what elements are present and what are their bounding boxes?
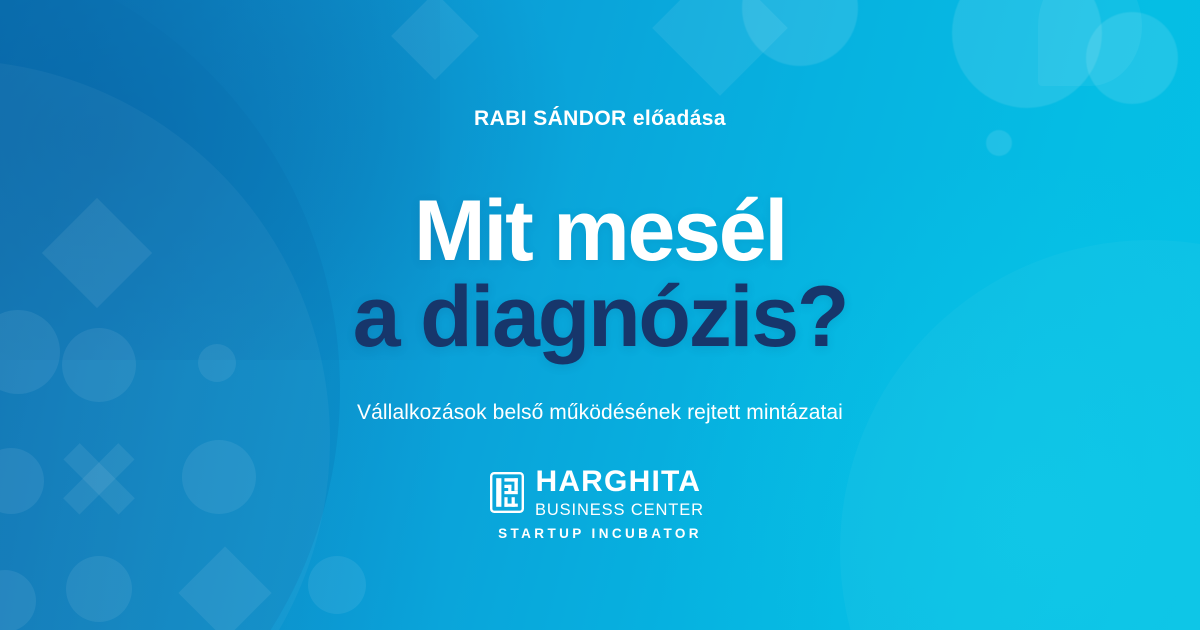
logo-primary-row: HARGHITA BUSINESS CENTER <box>490 467 709 518</box>
logo-name: HARGHITA <box>535 467 701 497</box>
title-line-primary: Mit mesél <box>353 189 847 273</box>
harghita-maze-monogram-icon <box>490 472 524 513</box>
poster-content: RABI SÁNDOR előadása Mit mesél a diagnóz… <box>0 0 1200 630</box>
speaker-eyebrow: RABI SÁNDOR előadása <box>474 108 726 129</box>
page-title: Mit mesél a diagnózis? <box>353 189 847 360</box>
title-line-secondary: a diagnózis? <box>353 275 847 359</box>
poster-canvas: RABI SÁNDOR előadása Mit mesél a diagnóz… <box>0 0 1200 630</box>
logo-subname: BUSINESS CENTER <box>535 501 704 518</box>
harghita-logo: HARGHITA BUSINESS CENTER STARTUP INCUBAT… <box>490 467 709 541</box>
subtitle: Vállalkozások belső működésének rejtett … <box>357 400 843 425</box>
logo-tagline: STARTUP INCUBATOR <box>498 527 702 541</box>
logo-wordmark: HARGHITA BUSINESS CENTER <box>535 467 709 518</box>
